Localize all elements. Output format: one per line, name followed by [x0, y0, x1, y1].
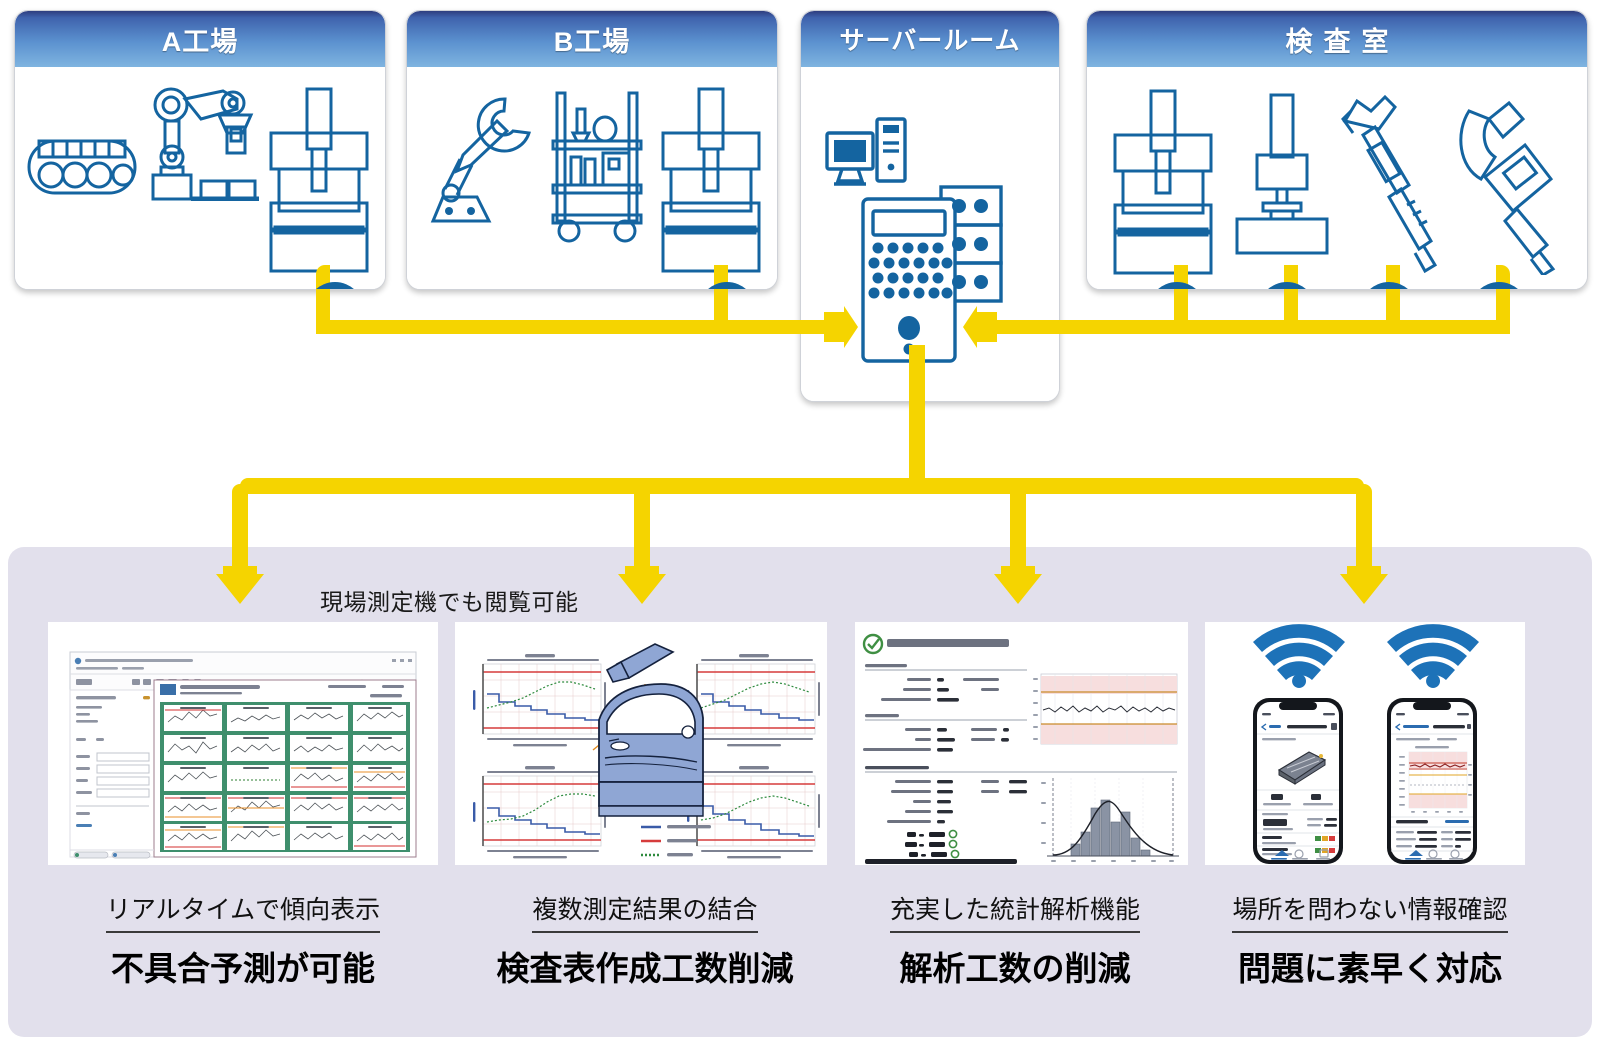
caliper-icon: [1335, 89, 1443, 275]
badge-desktop-pc-factory-b[interactable]: [698, 282, 756, 290]
wire-drop-4: [1356, 484, 1372, 576]
wire-right-bus: [995, 320, 1510, 334]
feature-headline-realtime: 不具合予測が可能: [48, 942, 438, 990]
feature-caption-statistics: 充実した統計解析機能 解析工数の削減: [830, 890, 1200, 990]
arrow-down-3: [994, 566, 1042, 604]
screenshot-car-door-report[interactable]: [455, 622, 827, 865]
room-body-server: [801, 67, 1059, 401]
room-header-server: サーバールーム: [801, 11, 1059, 67]
room-title-server: サーバールーム: [839, 21, 1020, 57]
desktop-computer-icon: [825, 115, 913, 189]
height-gauge-icon: [1227, 93, 1337, 273]
onsite-note: 現場測定機でも閲覧可能: [320, 583, 579, 617]
micrometer-icon: [1455, 93, 1563, 275]
room-card-factory-b[interactable]: B工場: [406, 10, 778, 290]
wire-factory-a-vertical: [316, 265, 330, 327]
badge-laptop-inspection-1[interactable]: [1360, 282, 1418, 290]
feature-headline-anywhere: 問題に素早く対応: [1195, 942, 1545, 990]
room-header-factory-a: A工場: [15, 11, 385, 67]
feature-caption-anywhere: 場所を問わない情報確認 問題に素早く対応: [1195, 890, 1545, 990]
feature-caption-realtime: リアルタイムで傾向表示 不具合予測が可能: [48, 890, 438, 990]
wire-distribution-bar: [240, 478, 1364, 494]
wire-inspect-1-vertical: [1174, 265, 1188, 327]
wire-server-trunk: [909, 345, 925, 484]
room-card-factory-a[interactable]: A工場: [14, 10, 386, 290]
feature-subtitle-combine: 複数測定結果の結合: [532, 890, 757, 933]
feature-subtitle-realtime: リアルタイムで傾向表示: [106, 890, 380, 933]
screenshot-trend-dashboard[interactable]: [48, 622, 438, 865]
robot-arm-wrench-icon: [427, 93, 547, 231]
feature-headline-statistics: 解析工数の削減: [830, 942, 1200, 990]
wire-drop-3: [1010, 484, 1026, 576]
badge-desktop-pc-inspection-1[interactable]: [1148, 282, 1206, 290]
arrow-into-server-left: [824, 306, 858, 348]
feature-caption-combine: 複数測定結果の結合 検査表作成工数削減: [450, 890, 840, 990]
wire-left-bus: [316, 320, 830, 334]
badge-desktop-pc-factory-a[interactable]: [306, 282, 364, 290]
robot-arm-icon: [145, 85, 261, 201]
room-title-factory-a: A工場: [162, 20, 239, 59]
wire-drop-1: [232, 484, 248, 576]
arrow-down-4: [1340, 566, 1388, 604]
room-header-factory-b: B工場: [407, 11, 777, 67]
wire-inspect-4-vertical: [1496, 265, 1510, 327]
wire-factory-b-vertical: [714, 265, 728, 327]
feature-subtitle-statistics: 充実した統計解析機能: [890, 890, 1140, 933]
room-body-factory-a: [15, 67, 385, 289]
arrow-down-1: [216, 566, 264, 604]
room-title-inspection: 検査室: [1275, 20, 1400, 59]
screenshot-process-capability[interactable]: [855, 622, 1188, 865]
cmm-machine-icon: [657, 85, 767, 275]
conveyor-icon: [27, 135, 137, 197]
room-card-inspection[interactable]: 検査室: [1086, 10, 1588, 290]
wire-drop-2: [634, 484, 650, 576]
room-title-factory-b: B工場: [554, 20, 631, 59]
cmm-machine-icon: [265, 85, 375, 275]
feature-subtitle-anywhere: 場所を問わない情報確認: [1232, 890, 1507, 933]
diagram-canvas: A工場: [0, 0, 1600, 1045]
badge-laptop-inspection-2[interactable]: [1470, 282, 1528, 290]
room-body-factory-b: [407, 67, 777, 289]
badge-desktop-pc-inspection-2[interactable]: [1258, 282, 1316, 290]
cmm-machine-icon: [1109, 87, 1219, 277]
room-body-inspection: [1087, 67, 1587, 289]
tool-cart-icon: [547, 89, 647, 245]
feature-headline-combine: 検査表作成工数削減: [450, 942, 840, 990]
wire-inspect-2-vertical: [1284, 265, 1298, 327]
arrow-down-2: [618, 566, 666, 604]
room-header-inspection: 検査室: [1087, 11, 1587, 67]
arrow-into-server-right: [963, 306, 997, 348]
screenshot-mobile-phones[interactable]: [1205, 622, 1525, 865]
wire-inspect-3-vertical: [1386, 265, 1400, 327]
